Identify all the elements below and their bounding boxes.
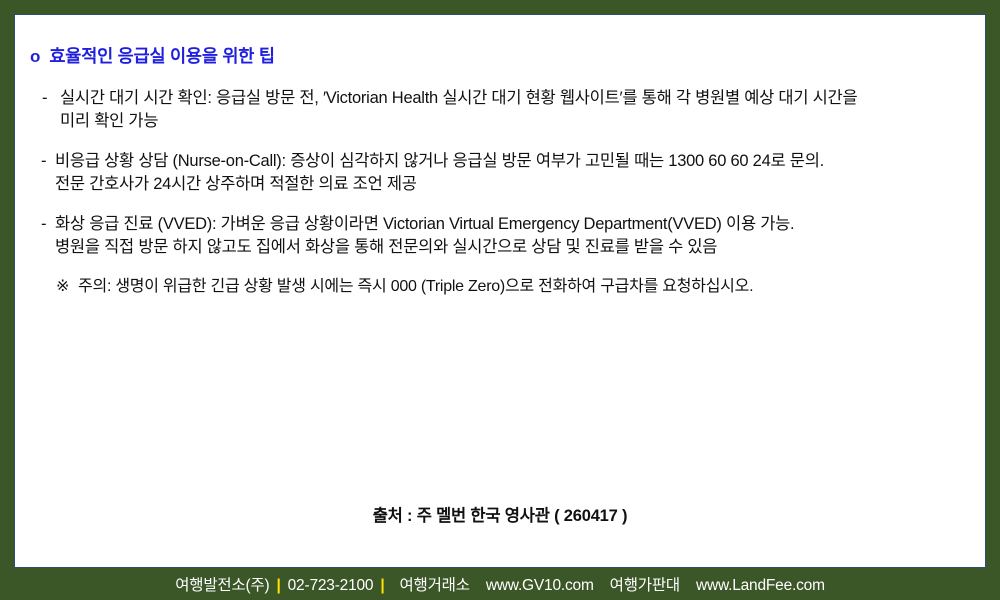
list-item: - 화상 응급 진료 (VVED): 가벼운 응급 상황이라면 Victoria… xyxy=(41,213,985,260)
list-item-line: 전문 간호사가 24시간 상주하며 적절한 의료 조언 제공 xyxy=(55,175,417,193)
footer-brand1-label: 여행거래소 xyxy=(400,573,470,595)
footer-separator: | xyxy=(373,577,391,595)
footer-brand2-site[interactable]: www.LandFee.com xyxy=(696,577,825,595)
body-content: - 실시간 대기 시간 확인: 응급실 방문 전, ′Victorian Hea… xyxy=(15,87,985,298)
list-item-line: 병원을 직접 방문 하지 않고도 집에서 화상을 통해 전문의와 실시간으로 상… xyxy=(55,238,717,256)
list-item: - 비응급 상황 상담 (Nurse-on-Call): 증상이 심각하지 않거… xyxy=(41,150,985,197)
list-item-marker: - xyxy=(41,213,55,236)
list-item-marker: - xyxy=(41,150,55,173)
footer-brand1-site[interactable]: www.GV10.com xyxy=(486,577,594,595)
title-text: 효율적인 응급실 이용을 위한 팁 xyxy=(49,43,274,68)
list-item-marker: - xyxy=(42,87,60,110)
source-attribution: 출처 : 주 멜번 한국 영사관 ( 260417 ) xyxy=(15,502,985,526)
warning-note-text: 주의: 생명이 위급한 긴급 상황 발생 시에는 즉시 000 (Triple … xyxy=(78,276,753,299)
list-item-lines: 실시간 대기 시간 확인: 응급실 방문 전, ′Victorian Healt… xyxy=(60,87,985,134)
page-title: o 효율적인 응급실 이용을 위한 팁 xyxy=(30,43,275,68)
list-item-line: 실시간 대기 시간 확인: 응급실 방문 전, ′Victorian Healt… xyxy=(60,89,857,107)
list-item: - 실시간 대기 시간 확인: 응급실 방문 전, ′Victorian Hea… xyxy=(42,87,985,134)
footer-separator: | xyxy=(270,577,288,595)
reference-mark-icon: ※ xyxy=(56,276,78,299)
footer-bar: 여행발전소(주) | 02-723-2100 | 여행거래소 www.GV10.… xyxy=(0,568,1000,600)
slide-root: o 효율적인 응급실 이용을 위한 팁 - 실시간 대기 시간 확인: 응급실 … xyxy=(0,0,1000,600)
footer-company: 여행발전소(주) xyxy=(175,573,269,595)
footer-brand2-label: 여행가판대 xyxy=(610,573,680,595)
warning-note: ※ 주의: 생명이 위급한 긴급 상황 발생 시에는 즉시 000 (Tripl… xyxy=(56,276,985,299)
title-bullet-icon: o xyxy=(30,48,40,65)
footer-phone: 02-723-2100 xyxy=(288,577,374,595)
list-item-line: 미리 확인 가능 xyxy=(60,112,158,130)
list-item-line: 비응급 상황 상담 (Nurse-on-Call): 증상이 심각하지 않거나 … xyxy=(55,152,824,170)
content-card: o 효율적인 응급실 이용을 위한 팁 - 실시간 대기 시간 확인: 응급실 … xyxy=(14,14,986,568)
list-item-lines: 비응급 상황 상담 (Nurse-on-Call): 증상이 심각하지 않거나 … xyxy=(55,150,985,197)
list-item-line: 화상 응급 진료 (VVED): 가벼운 응급 상황이라면 Victorian … xyxy=(55,215,794,233)
footer-content: 여행발전소(주) | 02-723-2100 | 여행거래소 www.GV10.… xyxy=(175,573,825,595)
list-item-lines: 화상 응급 진료 (VVED): 가벼운 응급 상황이라면 Victorian … xyxy=(55,213,985,260)
